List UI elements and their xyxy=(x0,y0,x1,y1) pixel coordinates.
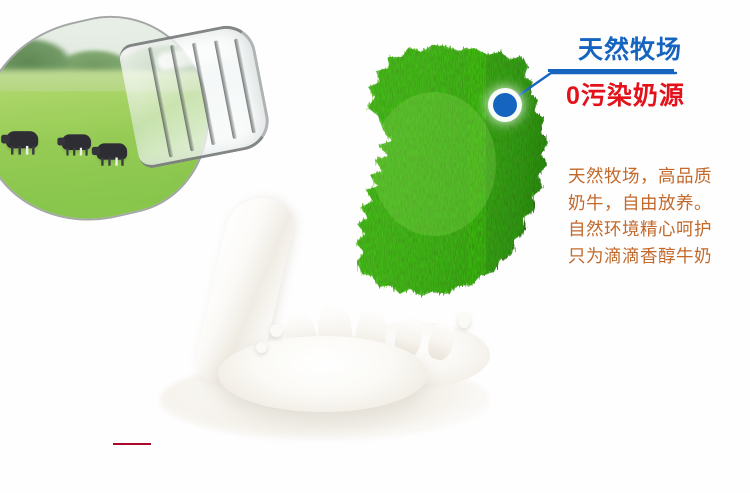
headline-divider xyxy=(548,69,674,72)
bottle-neck xyxy=(117,21,274,170)
splash-bowl xyxy=(218,336,428,412)
milk-droplet xyxy=(458,312,470,328)
milk-droplet xyxy=(256,342,267,353)
headline: 天然牧场 xyxy=(578,30,682,66)
cow-icon xyxy=(6,131,38,148)
body-line: 天然牧场，高品质 xyxy=(568,163,748,190)
bottle-thread xyxy=(234,38,256,133)
map-marker-dot[interactable] xyxy=(493,93,517,117)
milk-splash-crown xyxy=(190,300,490,410)
body-line: 只为滴滴香醇牛奶 xyxy=(568,243,748,270)
promo-banner: 天然牧场 0污染奶源 天然牧场，高品质 奶牛，自由放养。 自然环境精心呵护 只为… xyxy=(0,0,750,493)
body-line: 奶牛，自由放养。 xyxy=(568,190,748,217)
cow-icon xyxy=(62,134,91,150)
cow-icon xyxy=(97,143,128,160)
subheadline: 0污染奶源 xyxy=(566,76,685,112)
milk-droplet xyxy=(270,324,283,337)
body-copy: 天然牧场，高品质 奶牛，自由放养。 自然环境精心呵护 只为滴滴香醇牛奶 xyxy=(568,163,748,269)
body-line: 自然环境精心呵护 xyxy=(568,216,748,243)
accent-bar xyxy=(113,443,151,445)
